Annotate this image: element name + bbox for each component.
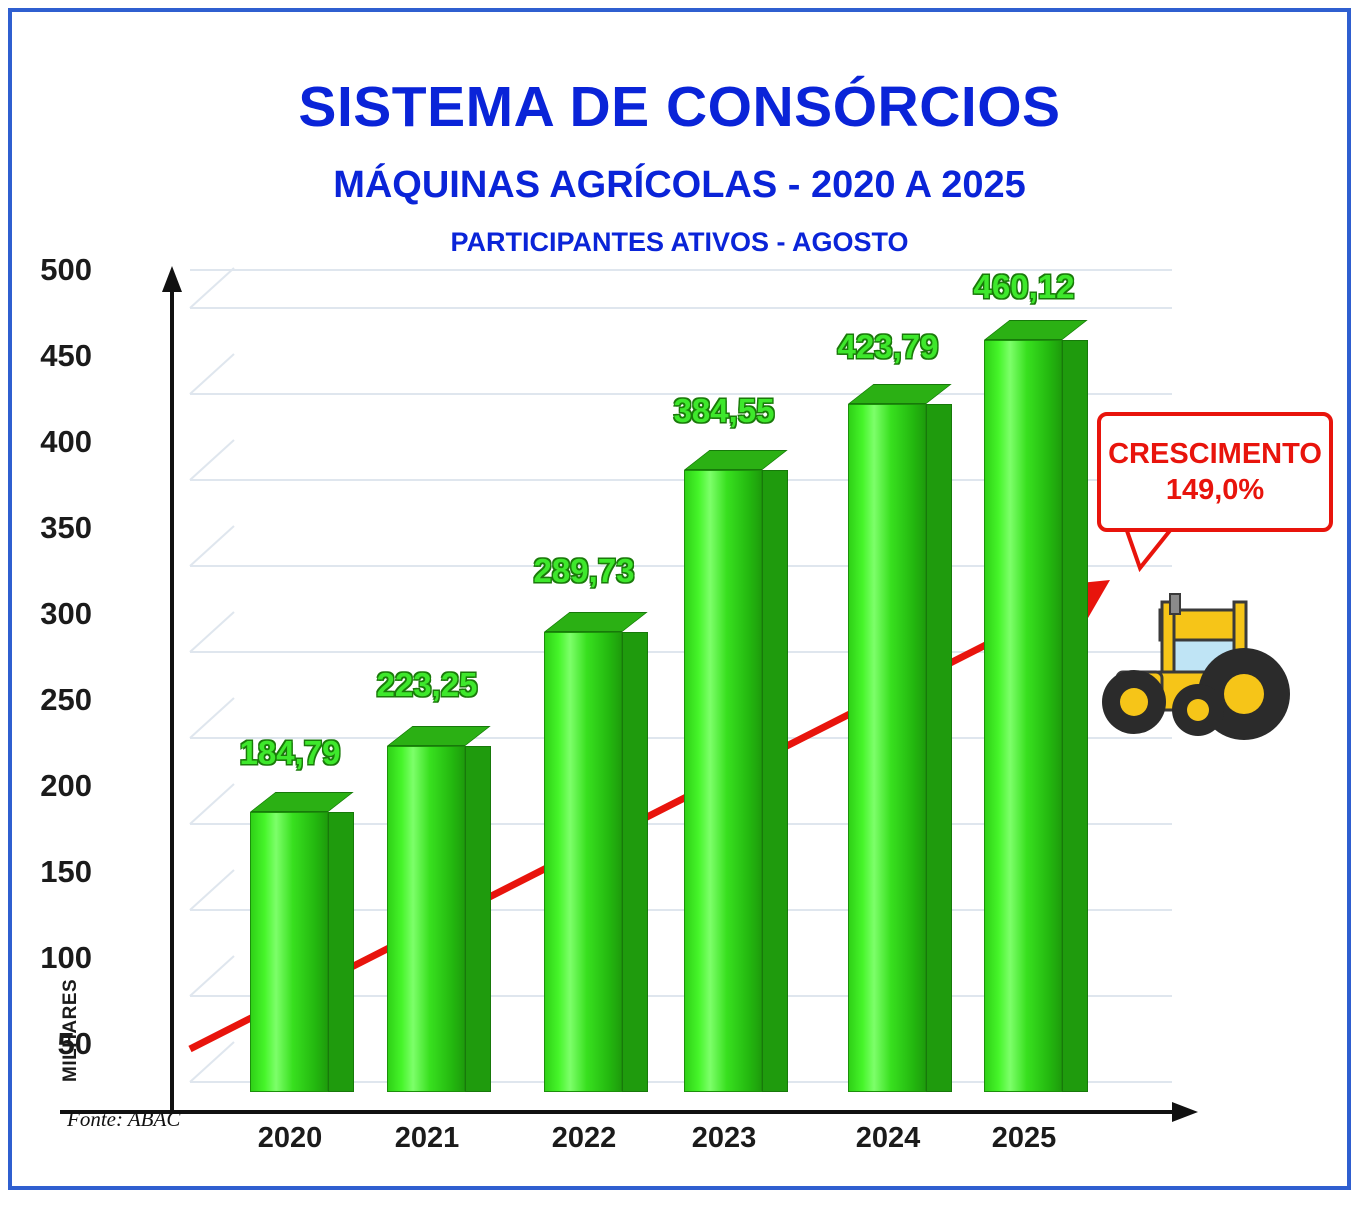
bar-value-2022: 289,73	[484, 552, 684, 590]
bar-2020-side	[328, 812, 354, 1092]
bar-2023-front	[684, 470, 762, 1092]
bar-2022-side	[622, 632, 648, 1092]
bar-2021-front	[387, 746, 465, 1092]
bar-2024-front	[848, 404, 926, 1092]
x-tick-2023: 2023	[634, 1122, 814, 1155]
bar-2025[interactable]	[984, 320, 1062, 1092]
growth-callout-value: 149,0%	[1166, 472, 1264, 508]
bar-value-2021: 223,25	[327, 666, 527, 704]
bar-2025-side	[1062, 340, 1088, 1092]
bar-2024[interactable]	[848, 384, 926, 1092]
chart-frame: SISTEMA DE CONSÓRCIOS MÁQUINAS AGRÍCOLAS…	[8, 8, 1351, 1190]
bar-2021[interactable]	[387, 726, 465, 1092]
bar-value-2020: 184,79	[190, 734, 390, 772]
x-tick-2025: 2025	[934, 1122, 1114, 1155]
growth-callout-label: CRESCIMENTO	[1108, 436, 1322, 472]
bar-2022[interactable]	[544, 612, 622, 1092]
growth-callout: CRESCIMENTO 149,0%	[1097, 412, 1333, 532]
bar-2020[interactable]	[250, 792, 328, 1092]
bar-2023-side	[762, 470, 788, 1092]
chart-stage: SISTEMA DE CONSÓRCIOS MÁQUINAS AGRÍCOLAS…	[12, 12, 1347, 1186]
x-tick-2021: 2021	[337, 1122, 517, 1155]
tractor-icon	[1102, 594, 1290, 740]
bar-2021-side	[465, 746, 491, 1092]
bar-value-2023: 384,55	[624, 392, 824, 430]
bar-2024-side	[926, 404, 952, 1092]
bar-2023[interactable]	[684, 450, 762, 1092]
bar-value-2024: 423,79	[788, 328, 988, 366]
bar-value-2025: 460,12	[924, 268, 1124, 306]
source-note: Fonte: ABAC	[67, 1107, 180, 1132]
bar-2022-front	[544, 632, 622, 1092]
bar-2025-front	[984, 340, 1062, 1092]
bar-2020-front	[250, 812, 328, 1092]
